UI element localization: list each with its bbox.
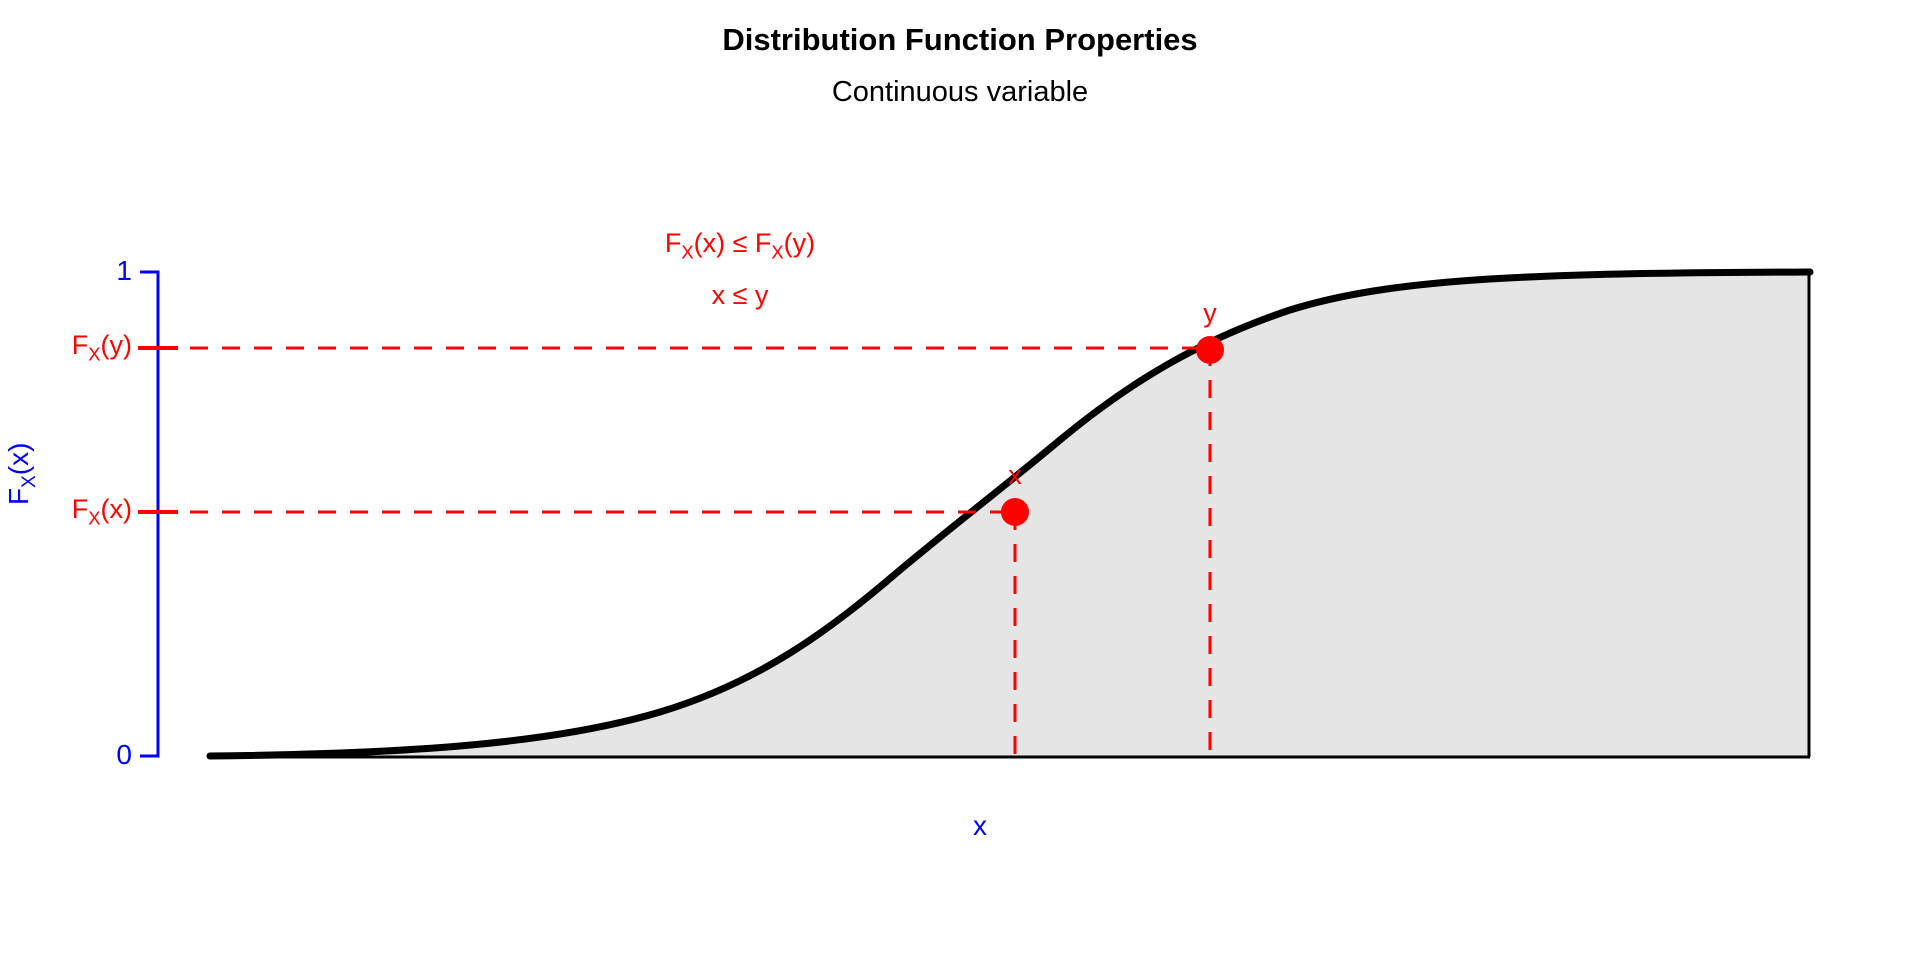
annotation-inequality-cdf: FX(x) ≤ FX(y): [580, 228, 900, 263]
x-axis-title: x: [950, 810, 1010, 842]
point-marker-x: [1001, 498, 1029, 526]
point-label-x: x: [985, 460, 1045, 491]
point-marker-y: [1196, 336, 1224, 364]
chart-canvas: Distribution Function Properties Continu…: [0, 0, 1920, 960]
annotation-inequality-values: x ≤ y: [580, 280, 900, 311]
y-tick-label-zero: 0: [70, 739, 132, 771]
y-tick-label-one: 1: [70, 255, 132, 287]
point-label-y: y: [1180, 298, 1240, 329]
y-axis-title: FX(x): [3, 414, 41, 534]
y-tick-label-fy: FX(y): [0, 330, 132, 365]
